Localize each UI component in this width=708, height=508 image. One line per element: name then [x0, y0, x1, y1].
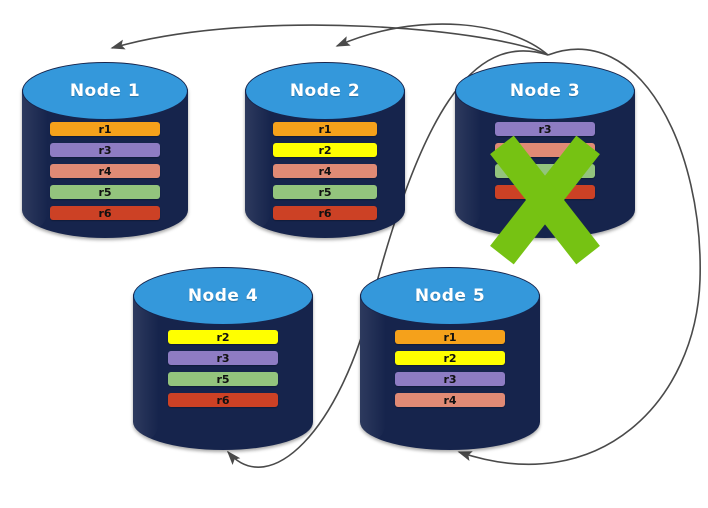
cylinder-top: Node 5: [360, 267, 540, 325]
replica-row[interactable]: r5: [50, 185, 160, 199]
diagram-canvas: Node 1 r1 r3 r4 r5 r6 Node 2 r1 r2 r4 r5…: [0, 0, 708, 508]
node-1[interactable]: Node 1 r1 r3 r4 r5 r6: [22, 62, 188, 238]
replica-row[interactable]: r3: [495, 122, 595, 136]
replica-row[interactable]: r1: [50, 122, 160, 136]
replica-row-list: r1 r2 r3 r4: [395, 330, 505, 414]
replica-row[interactable]: r1: [273, 122, 377, 136]
cylinder-top: Node 3: [455, 62, 635, 120]
replica-row[interactable]: r4: [273, 164, 377, 178]
node-2[interactable]: Node 2 r1 r2 r4 r5 r6: [245, 62, 405, 238]
replica-row[interactable]: r2: [273, 143, 377, 157]
replica-row[interactable]: r3: [168, 351, 278, 365]
arrow-node3-to-node1: [112, 25, 548, 55]
replica-row[interactable]: r4: [395, 393, 505, 407]
replica-row[interactable]: [495, 164, 595, 178]
replica-row[interactable]: r6: [273, 206, 377, 220]
replica-row[interactable]: r5: [168, 372, 278, 386]
node-5[interactable]: Node 5 r1 r2 r3 r4: [360, 267, 540, 450]
replica-row[interactable]: r2: [395, 351, 505, 365]
node-title: Node 4: [188, 286, 258, 306]
replica-row[interactable]: [495, 185, 595, 199]
replica-row[interactable]: r2: [168, 330, 278, 344]
replica-row-list: r1 r2 r4 r5 r6: [273, 122, 377, 227]
cylinder-top: Node 4: [133, 267, 313, 325]
replica-row[interactable]: [495, 143, 595, 157]
node-title: Node 5: [415, 286, 485, 306]
replica-row[interactable]: r6: [168, 393, 278, 407]
replica-row-list: r3: [495, 122, 595, 206]
cylinder-top: Node 1: [22, 62, 188, 120]
arrow-node3-to-node2: [337, 24, 548, 55]
node-title: Node 1: [70, 81, 140, 101]
replica-row[interactable]: r4: [50, 164, 160, 178]
replica-row-list: r2 r3 r5 r6: [168, 330, 278, 414]
replica-row[interactable]: r6: [50, 206, 160, 220]
replica-row[interactable]: r5: [273, 185, 377, 199]
node-3[interactable]: Node 3 r3: [455, 62, 635, 238]
node-title: Node 2: [290, 81, 360, 101]
replica-row[interactable]: r3: [50, 143, 160, 157]
cylinder-top: Node 2: [245, 62, 405, 120]
node-title: Node 3: [510, 81, 580, 101]
replica-row[interactable]: r3: [395, 372, 505, 386]
replica-row-list: r1 r3 r4 r5 r6: [50, 122, 160, 227]
replica-row[interactable]: r1: [395, 330, 505, 344]
node-4[interactable]: Node 4 r2 r3 r5 r6: [133, 267, 313, 450]
